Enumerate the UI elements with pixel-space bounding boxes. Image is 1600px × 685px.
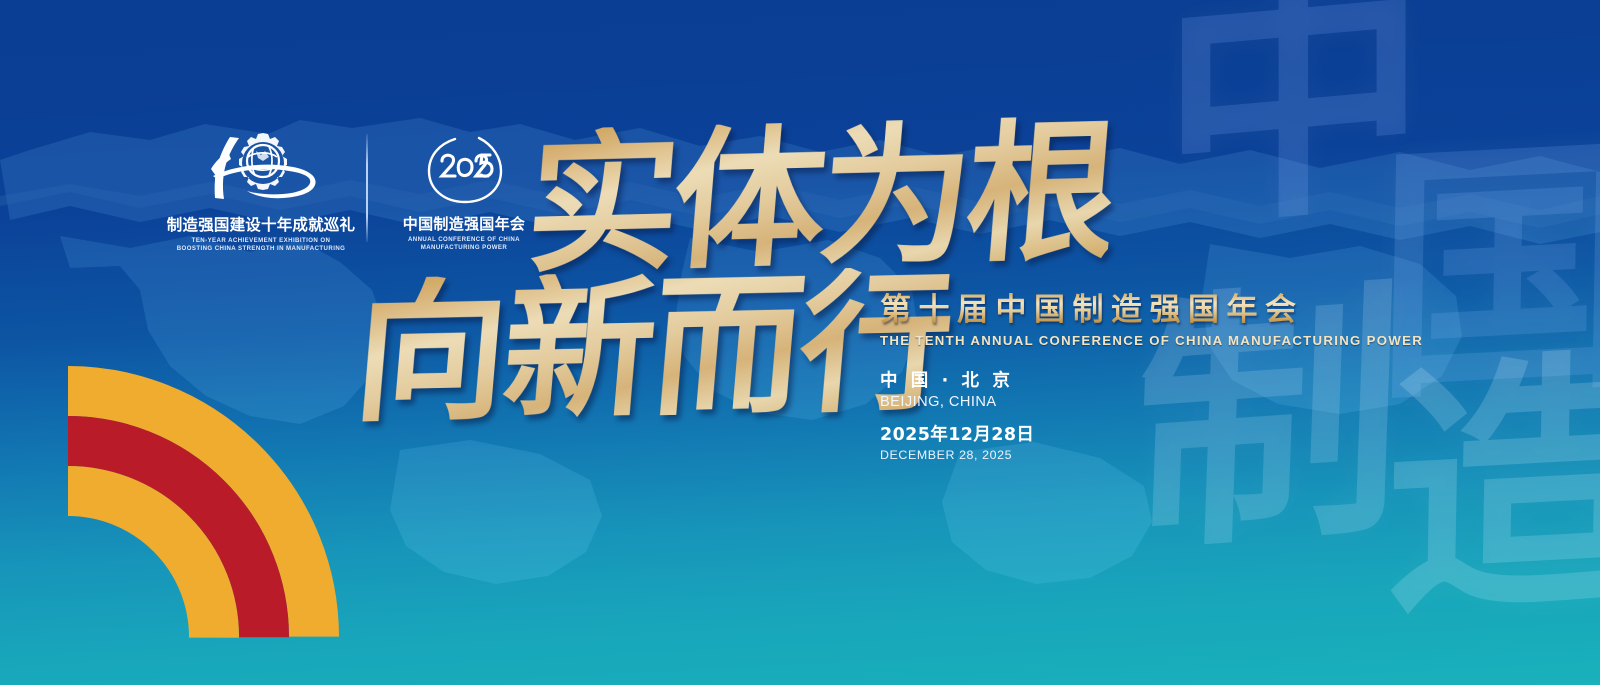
- conference-info-block: 第十届中国制造强国年会 THE TENTH ANNUAL CONFERENCE …: [880, 284, 1423, 462]
- conference-date-zh: 2025年12月28日: [880, 421, 1423, 446]
- logo-annual-conference-en: ANNUAL CONFERENCE OF CHINA MANUFACTURING…: [408, 236, 520, 253]
- logo-ten-year-exhibition-zh: 制造强国建设十年成就巡礼: [167, 213, 355, 235]
- logo-annual-conference[interactable]: 中国制造强国年会 ANNUAL CONFERENCE OF CHINA MANU…: [398, 128, 530, 253]
- logo-divider: [366, 134, 368, 242]
- logo-lockup: 制造强国建设十年成就巡礼 TEN-YEAR ACHIEVEMENT EXHIBI…: [186, 128, 530, 254]
- conference-city-zh: 中 国 · 北 京: [880, 367, 1423, 392]
- decorative-arcs: [0, 357, 348, 685]
- conference-title-en: THE TENTH ANNUAL CONFERENCE OF CHINA MAN…: [880, 333, 1423, 348]
- conference-banner: 中 国 制 造: [0, 0, 1600, 685]
- logo-en-line1: ANNUAL CONFERENCE OF CHINA: [408, 236, 520, 243]
- logo-annual-conference-zh: 中国制造强国年会: [403, 213, 525, 234]
- logo-en-line1: TEN-YEAR ACHIEVEMENT EXHIBITION ON: [192, 237, 331, 244]
- 2025-circle-logo: [422, 128, 506, 208]
- logo-ten-year-exhibition[interactable]: 制造强国建设十年成就巡礼 TEN-YEAR ACHIEVEMENT EXHIBI…: [186, 128, 336, 254]
- inner-arc: [0, 491, 214, 685]
- conference-date-en: DECEMBER 28, 2025: [880, 448, 1423, 462]
- logo-en-line2: MANUFACTURING POWER: [421, 244, 508, 251]
- logo-en-line2: BOOSTING CHINA STRENGTH IN MANUFACTURING: [177, 245, 346, 252]
- logo-ten-year-exhibition-en: TEN-YEAR ACHIEVEMENT EXHIBITION ON BOOST…: [177, 237, 346, 254]
- ten-year-globe-gear-logo: [197, 128, 325, 208]
- conference-title-zh: 第十届中国制造强国年会: [880, 284, 1423, 329]
- conference-city-en: BEIJING, CHINA: [880, 394, 1423, 410]
